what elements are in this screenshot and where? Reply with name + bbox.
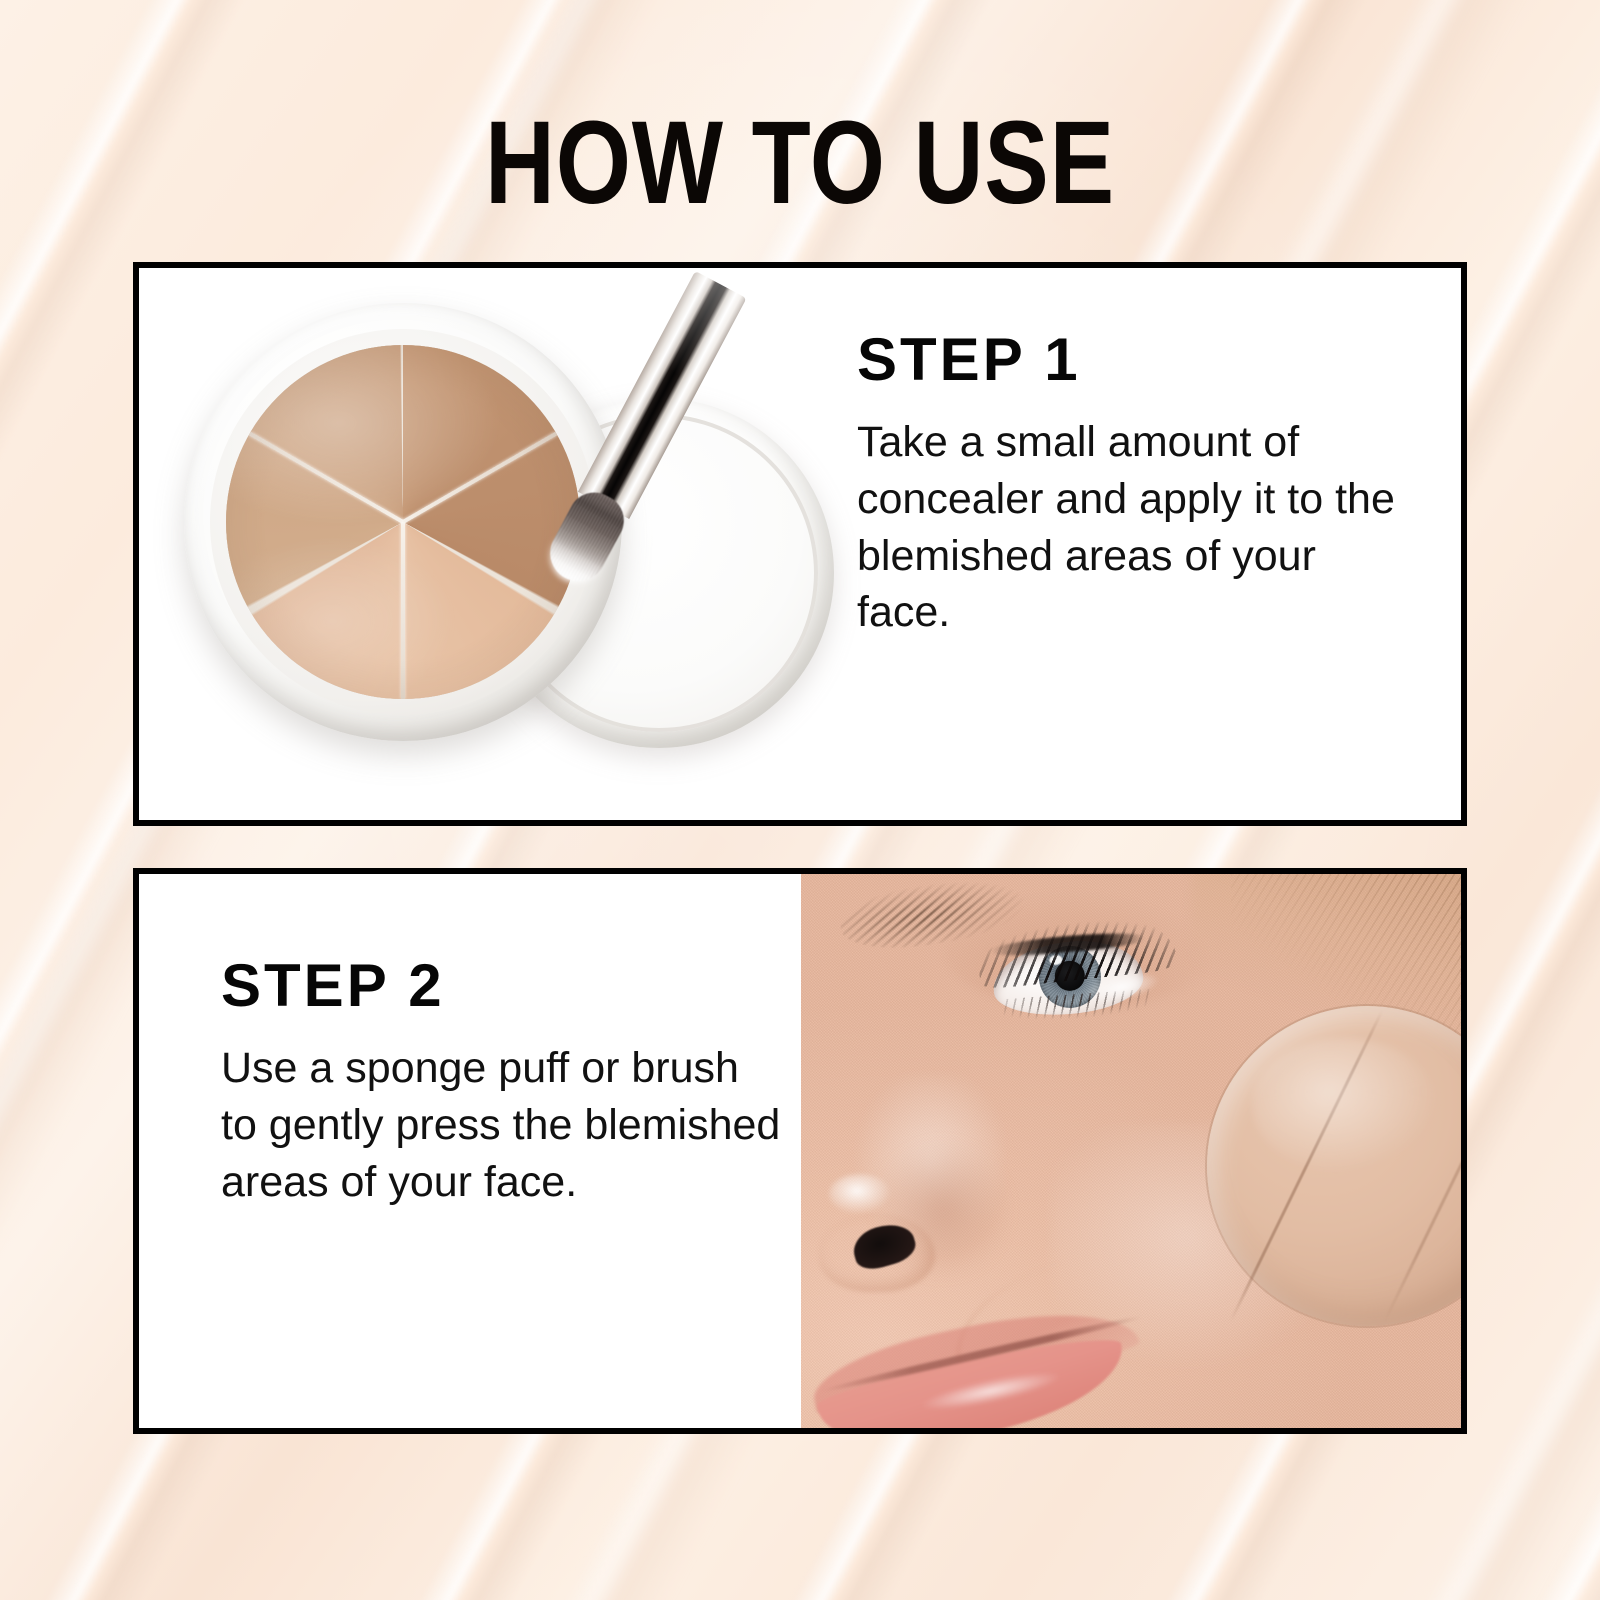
step-1-panel: STEP 1 Take a small amount of concealer … (133, 262, 1467, 826)
how-to-use-graphic: HOW TO USE (0, 0, 1600, 1600)
pan-gloss-highlight (226, 345, 580, 699)
step-2-heading: STEP 2 (221, 956, 781, 1016)
step-2-panel: STEP 2 Use a sponge puff or brush to gen… (133, 868, 1467, 1434)
step-2-body: Use a sponge puff or brush to gently pre… (221, 1040, 781, 1210)
step-2-text-block: STEP 2 Use a sponge puff or brush to gen… (221, 956, 781, 1210)
nose-tip-highlight (829, 1174, 891, 1214)
concealer-compact-image (139, 268, 839, 820)
step-1-body: Take a small amount of concealer and app… (857, 414, 1397, 641)
eye (957, 912, 1187, 1036)
concealer-pan (226, 345, 580, 699)
compact-base (184, 303, 622, 741)
step-1-heading: STEP 1 (857, 330, 1397, 390)
sponge-puff-sheen (1252, 1038, 1438, 1172)
model-face-image (801, 874, 1461, 1428)
page-title: HOW TO USE (144, 104, 1456, 222)
step-1-text-block: STEP 1 Take a small amount of concealer … (857, 330, 1397, 641)
